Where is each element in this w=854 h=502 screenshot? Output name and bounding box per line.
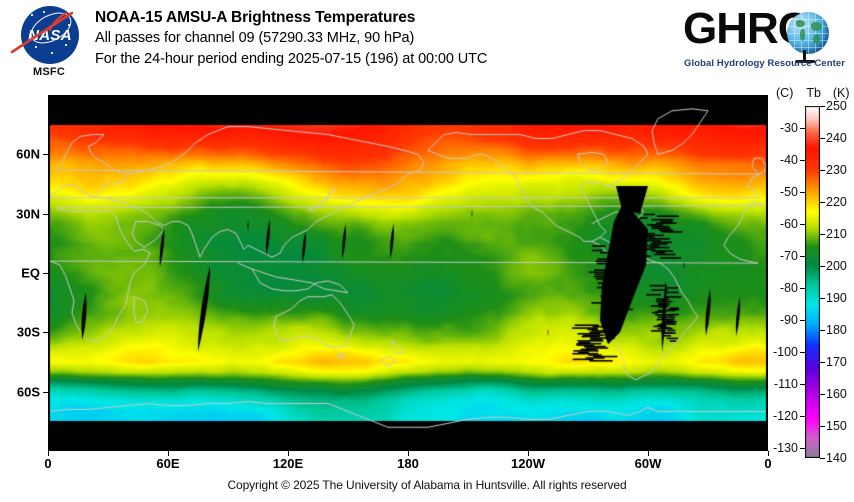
y-axis-tick: [43, 273, 48, 274]
colorbar-tick-kelvin: [820, 458, 825, 459]
colorbar-tick-celsius: [800, 192, 805, 193]
colorbar-label-kelvin: 220: [826, 195, 847, 209]
colorbar-label-kelvin: 150: [826, 419, 847, 433]
colorbar-tick-kelvin: [820, 330, 825, 331]
colorbar-label-celsius: -70: [780, 249, 798, 263]
ghrc-logo: GHRC Global Hydrology Resource Center: [683, 6, 843, 74]
colorbar-label-kelvin: 180: [826, 323, 847, 337]
colorbar-tick-celsius: [800, 160, 805, 161]
y-axis-label: 60S: [0, 385, 40, 400]
colorbar-tick-kelvin: [820, 106, 825, 107]
nasa-logo: NASA MSFC: [12, 4, 86, 82]
nasa-center-label: MSFC: [12, 66, 86, 78]
colorbar-unit-celsius: (C): [776, 86, 793, 100]
colorbar-label-celsius: -90: [780, 313, 798, 327]
colorbar-tick-kelvin: [820, 426, 825, 427]
colorbar-label-kelvin: 250: [826, 99, 847, 113]
colorbar-tick-celsius: [800, 224, 805, 225]
x-axis-label: 0: [764, 456, 771, 471]
colorbar-tick-celsius: [800, 288, 805, 289]
y-axis-label: 60N: [0, 147, 40, 162]
y-axis-tick: [43, 154, 48, 155]
brightness-temperature-map: [48, 95, 768, 451]
y-axis-label: EQ: [0, 266, 40, 281]
y-axis-label: 30S: [0, 325, 40, 340]
map-raster: [48, 95, 768, 451]
colorbar-variable: Tb: [806, 86, 821, 100]
y-axis-label: 30N: [0, 207, 40, 222]
colorbar-tick-kelvin: [820, 138, 825, 139]
colorbar-tick-kelvin: [820, 266, 825, 267]
colorbar-label-kelvin: 230: [826, 163, 847, 177]
colorbar-tick-celsius: [800, 448, 805, 449]
colorbar: (C) Tb (K) 25024023022021020019018017016…: [776, 86, 854, 466]
page-title: NOAA-15 AMSU-A Brightness Temperatures: [95, 8, 675, 28]
y-axis-tick: [43, 214, 48, 215]
colorbar-label-kelvin: 140: [826, 451, 847, 465]
title-block: NOAA-15 AMSU-A Brightness Temperatures A…: [95, 8, 675, 70]
colorbar-label-kelvin: 170: [826, 355, 847, 369]
colorbar-label-celsius: -100: [773, 345, 798, 359]
colorbar-tick-kelvin: [820, 202, 825, 203]
colorbar-tick-celsius: [800, 128, 805, 129]
colorbar-label-kelvin: 240: [826, 131, 847, 145]
page-subtitle-period: For the 24-hour period ending 2025-07-15…: [95, 49, 675, 70]
colorbar-header: (C) Tb (K): [776, 86, 854, 100]
colorbar-tick-celsius: [800, 320, 805, 321]
x-axis-label: 60W: [635, 456, 662, 471]
x-axis-label: 0: [44, 456, 51, 471]
colorbar-label-celsius: -30: [780, 121, 798, 135]
colorbar-label-celsius: -80: [780, 281, 798, 295]
colorbar-tick-celsius: [800, 352, 805, 353]
colorbar-tick-kelvin: [820, 362, 825, 363]
x-axis-label: 120E: [273, 456, 303, 471]
colorbar-tick-celsius: [800, 416, 805, 417]
ghrc-tagline: Global Hydrology Resource Center: [684, 58, 842, 69]
colorbar-label-kelvin: 200: [826, 259, 847, 273]
colorbar-unit-kelvin: (K): [833, 86, 850, 100]
colorbar-gradient: [805, 106, 820, 458]
colorbar-label-kelvin: 160: [826, 387, 847, 401]
colorbar-label-celsius: -40: [780, 153, 798, 167]
colorbar-tick-celsius: [800, 256, 805, 257]
y-axis-tick: [43, 392, 48, 393]
page-subtitle-channel: All passes for channel 09 (57290.33 MHz,…: [95, 28, 675, 49]
colorbar-tick-kelvin: [820, 394, 825, 395]
colorbar-label-celsius: -50: [780, 185, 798, 199]
x-axis-label: 120W: [511, 456, 545, 471]
page-header: NASA MSFC NOAA-15 AMSU-A Brightness Temp…: [0, 0, 854, 90]
colorbar-label-celsius: -60: [780, 217, 798, 231]
colorbar-tick-kelvin: [820, 234, 825, 235]
colorbar-label-celsius: -120: [773, 409, 798, 423]
colorbar-tick-celsius: [800, 384, 805, 385]
colorbar-label-celsius: -130: [773, 441, 798, 455]
colorbar-label-kelvin: 190: [826, 291, 847, 305]
x-axis-label: 60E: [156, 456, 179, 471]
x-axis-label: 180: [397, 456, 419, 471]
y-axis-tick: [43, 332, 48, 333]
colorbar-tick-kelvin: [820, 298, 825, 299]
globe-icon: [787, 12, 829, 54]
colorbar-label-celsius: -110: [774, 377, 798, 391]
nasa-swoosh-icon: [8, 10, 76, 56]
copyright-notice: Copyright © 2025 The University of Alaba…: [0, 478, 854, 492]
colorbar-label-kelvin: 210: [826, 227, 847, 241]
colorbar-tick-kelvin: [820, 170, 825, 171]
